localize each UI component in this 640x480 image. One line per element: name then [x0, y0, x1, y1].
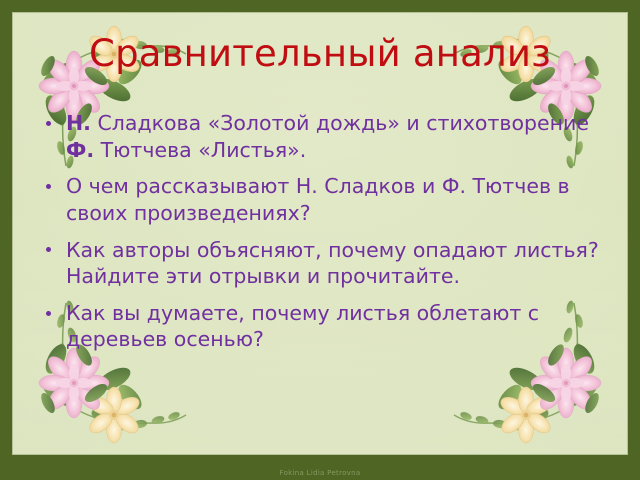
bullet-item-text: Как вы думаете, почему листья облетают с…: [66, 301, 539, 352]
bullet-item: О чем рассказывают Н. Сладков и Ф. Тютче…: [42, 173, 606, 226]
bullet-item-text: Н. Сладкова «Золотой дождь» и стихотворе…: [66, 111, 589, 162]
bullet-item: Н. Сладкова «Золотой дождь» и стихотворе…: [42, 110, 606, 163]
bullet-dot-icon: [46, 311, 51, 316]
bullet-item: Как авторы объясняют, почему опадают лис…: [42, 237, 606, 290]
bullet-dot-icon: [46, 184, 51, 189]
slide-bullet-list: Н. Сладкова «Золотой дождь» и стихотворе…: [42, 110, 606, 353]
presentation-slide: Сравнительный анализ Н. Сладкова «Золото…: [0, 0, 640, 480]
bullet-dot-icon: [46, 247, 51, 252]
slide-title: Сравнительный анализ: [12, 34, 628, 75]
slide-content-area: Сравнительный анализ Н. Сладкова «Золото…: [12, 12, 628, 455]
bullet-item: Как вы думаете, почему листья облетают с…: [42, 300, 606, 353]
bullet-dot-icon: [46, 121, 51, 126]
footer-credit-watermark: Fokina Lidia Petrovna: [0, 469, 640, 477]
bullet-item-text: Как авторы объясняют, почему опадают лис…: [66, 238, 599, 289]
bullet-item-text: О чем рассказывают Н. Сладков и Ф. Тютче…: [66, 174, 570, 225]
